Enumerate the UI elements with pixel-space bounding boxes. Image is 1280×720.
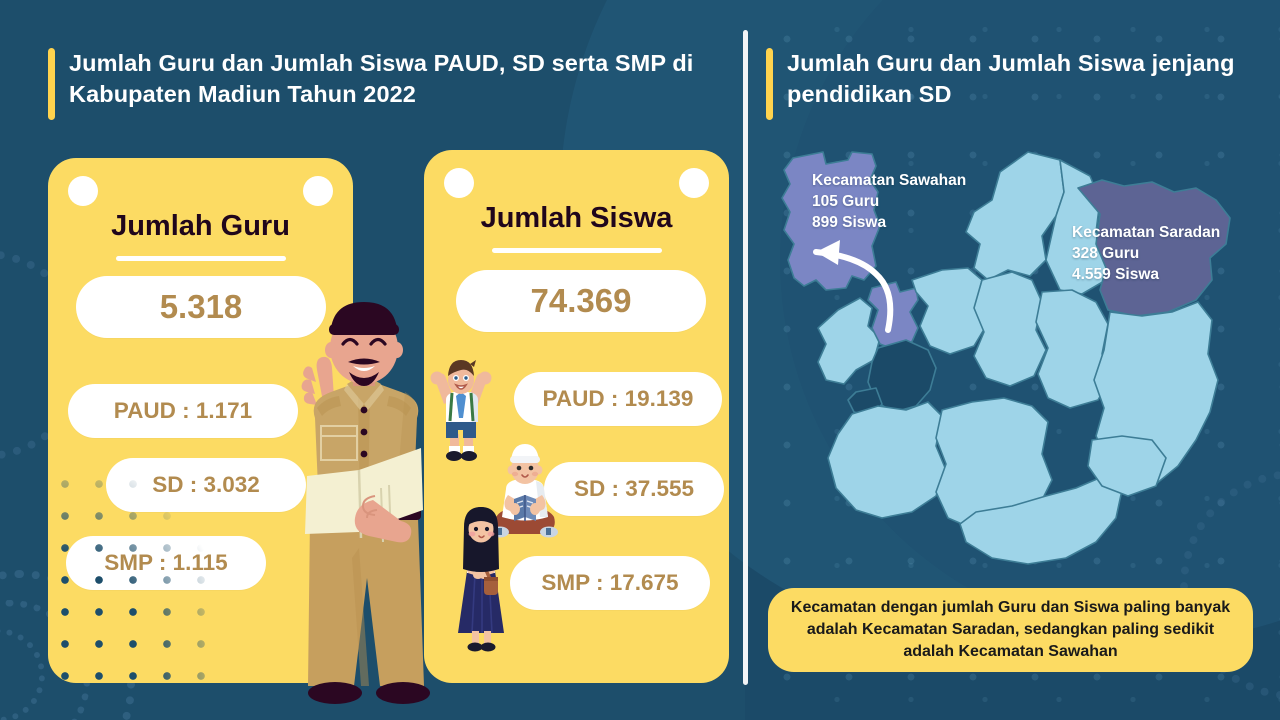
map-label-saradan: Kecamatan Saradan 328 Guru 4.559 Siswa — [1072, 222, 1220, 286]
map-region-central — [974, 272, 1046, 386]
card-siswa-row-sd: SD : 37.555 — [544, 462, 724, 516]
card-guru-heading: Jumlah Guru — [48, 210, 353, 243]
map-label-saradan-teachers: 328 Guru — [1072, 243, 1220, 264]
map-label-sawahan-students: 899 Siswa — [812, 212, 966, 233]
map-label-sawahan-teachers: 105 Guru — [812, 191, 966, 212]
card-guru-rule — [116, 256, 286, 261]
map-region-southwest — [828, 402, 946, 518]
title-accent-bar — [766, 48, 773, 120]
right-panel-title-text: Jumlah Guru dan Jumlah Siswa jenjang pen… — [787, 48, 1246, 109]
card-siswa-heading: Jumlah Siswa — [424, 202, 729, 235]
title-accent-bar — [48, 48, 55, 120]
card-siswa-rule — [492, 248, 662, 253]
card-siswa-row-smp: SMP : 17.675 — [510, 556, 710, 610]
card-siswa-total-value: 74.369 — [456, 270, 706, 332]
card-punch-hole-icon — [679, 168, 709, 198]
card-siswa-row-paud: PAUD : 19.139 — [514, 372, 722, 426]
map-summary-caption-text: Kecamatan dengan jumlah Guru dan Siswa p… — [784, 597, 1237, 662]
card-punch-hole-icon — [303, 176, 333, 206]
right-panel-title: Jumlah Guru dan Jumlah Siswa jenjang pen… — [766, 48, 1246, 120]
student-boy-illustration — [428, 358, 494, 463]
map-summary-caption: Kecamatan dengan jumlah Guru dan Siswa p… — [768, 588, 1253, 672]
map-label-saradan-students: 4.559 Siswa — [1072, 264, 1220, 285]
card-guru-row-smp: SMP : 1.115 — [66, 536, 266, 590]
student-girl-illustration — [448, 505, 514, 655]
map-label-saradan-district: Kecamatan Saradan — [1072, 222, 1220, 243]
left-panel-title-text: Jumlah Guru dan Jumlah Siswa PAUD, SD se… — [69, 48, 728, 109]
panel-divider — [743, 30, 748, 685]
left-panel-title: Jumlah Guru dan Jumlah Siswa PAUD, SD se… — [48, 48, 728, 120]
map-label-sawahan: Kecamatan Sawahan 105 Guru 899 Siswa — [812, 170, 966, 234]
card-punch-hole-icon — [68, 176, 98, 206]
card-punch-hole-icon — [444, 168, 474, 198]
map-label-sawahan-district: Kecamatan Sawahan — [812, 170, 966, 191]
